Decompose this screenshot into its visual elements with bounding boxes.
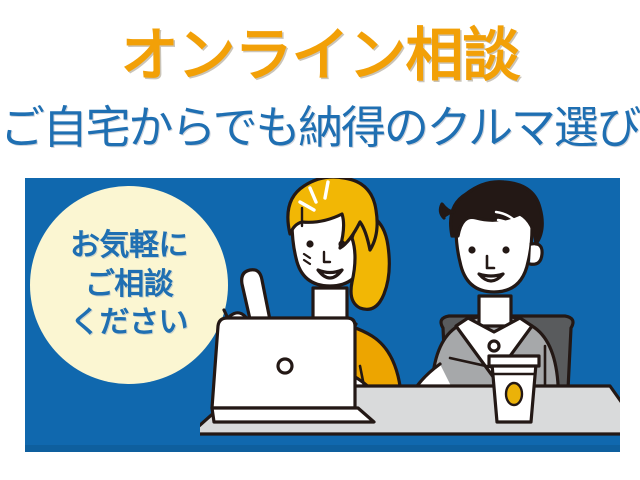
online-consultation-illustration [200, 178, 620, 452]
illustration-panel: お気軽に ご相談 ください [25, 178, 620, 452]
badge-line-2: ご相談 [85, 266, 174, 304]
badge-text: お気軽に ご相談 ください [30, 186, 228, 384]
coffee-cup-icon [489, 356, 539, 422]
page-title: オンライン相談 [0, 26, 640, 87]
online-consultation-banner: オンライン相談 ご自宅からでも納得のクルマ選びを お気軽に ご相談 ください [0, 0, 640, 480]
laptop-icon [212, 318, 374, 422]
badge-line-3: ください [70, 304, 188, 342]
panel-bottom-strip [25, 445, 620, 452]
page-subtitle: ご自宅からでも納得のクルマ選びを [0, 104, 640, 153]
badge-line-1: お気軽に [70, 227, 188, 265]
